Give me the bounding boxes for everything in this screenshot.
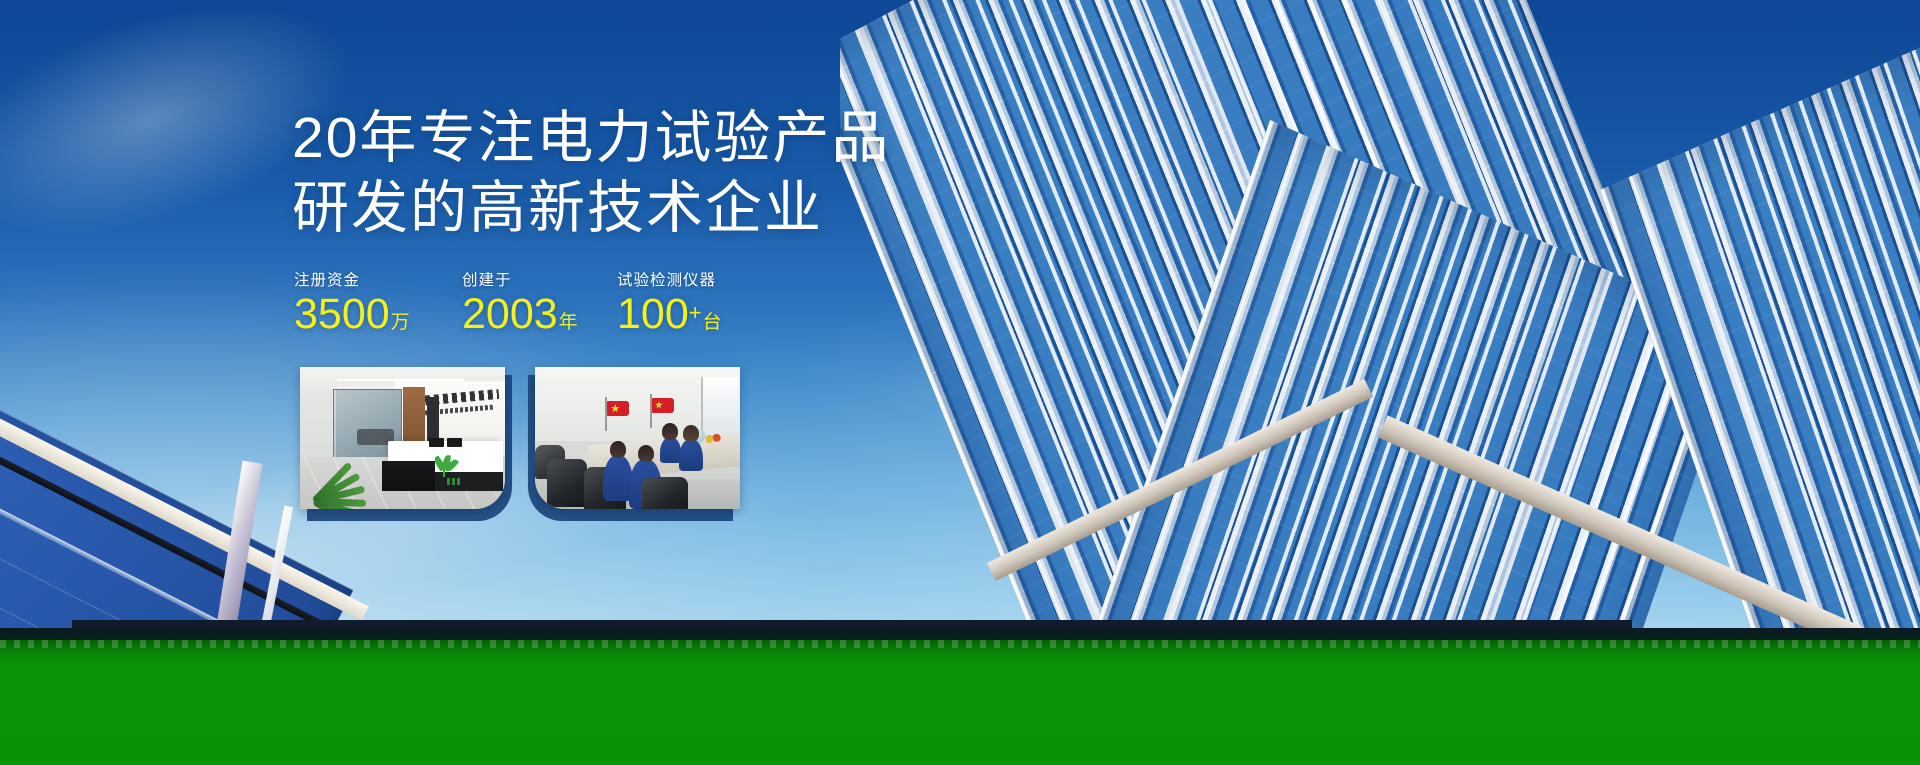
stat-test-instruments: 试验检测仪器 100+台 <box>617 268 722 336</box>
hero-banner: 20年专注电力试验产品 研发的高新技术企业 注册资金 3500万 创建于 200… <box>0 0 1920 765</box>
office-chair <box>642 477 688 509</box>
stat-number: 100 <box>617 290 689 338</box>
stat-value: 3500万 <box>294 293 462 336</box>
stat-value: 100+台 <box>617 293 722 336</box>
stat-number: 3500 <box>294 290 390 338</box>
palm-plant <box>300 449 380 509</box>
office-reception-photo <box>300 367 505 509</box>
photo-frame <box>300 367 505 509</box>
company-logo-icon <box>434 455 456 479</box>
flower-arrangement <box>704 433 722 445</box>
office-chair <box>547 459 587 507</box>
stat-superscript: + <box>689 300 702 325</box>
attendee <box>679 439 703 471</box>
attendee <box>603 455 633 501</box>
photo-thumbnails <box>300 367 756 517</box>
meeting-room-photo <box>535 367 740 509</box>
stat-unit: 万 <box>391 312 410 333</box>
page-title: 20年专注电力试验产品 研发的高新技术企业 <box>292 104 1052 243</box>
green-band-dotted-edge <box>0 640 1920 648</box>
photo-card-meeting-room[interactable] <box>528 367 740 517</box>
stat-label: 试验检测仪器 <box>617 268 722 290</box>
stat-number: 2003 <box>462 290 558 338</box>
national-flag-icon <box>652 398 674 413</box>
reception-desk-base <box>382 461 435 491</box>
headline-line-2: 研发的高新技术企业 <box>292 174 1052 244</box>
headline-line-1: 20年专注电力试验产品 <box>292 104 1052 174</box>
party-flag-icon <box>607 401 629 416</box>
green-footer-band <box>0 640 1920 765</box>
monitor <box>447 438 462 447</box>
stats-row: 注册资金 3500万 创建于 2003年 试验检测仪器 100+台 <box>294 268 722 336</box>
window <box>701 377 738 433</box>
stat-registered-capital: 注册资金 3500万 <box>294 268 462 336</box>
glass-towers-photo <box>840 0 1920 640</box>
monitor <box>429 438 444 447</box>
stat-value: 2003年 <box>462 293 617 336</box>
stat-unit: 台 <box>703 312 722 333</box>
stat-unit: 年 <box>559 312 578 333</box>
photo-frame <box>535 367 740 509</box>
stat-founded-year: 创建于 2003年 <box>462 268 617 336</box>
attendee <box>660 437 681 463</box>
stat-label: 创建于 <box>462 268 617 290</box>
dark-seam-divider <box>0 628 1920 640</box>
stat-label: 注册资金 <box>294 268 462 290</box>
photo-card-office-reception[interactable] <box>300 367 512 517</box>
company-logo-text <box>447 478 460 485</box>
